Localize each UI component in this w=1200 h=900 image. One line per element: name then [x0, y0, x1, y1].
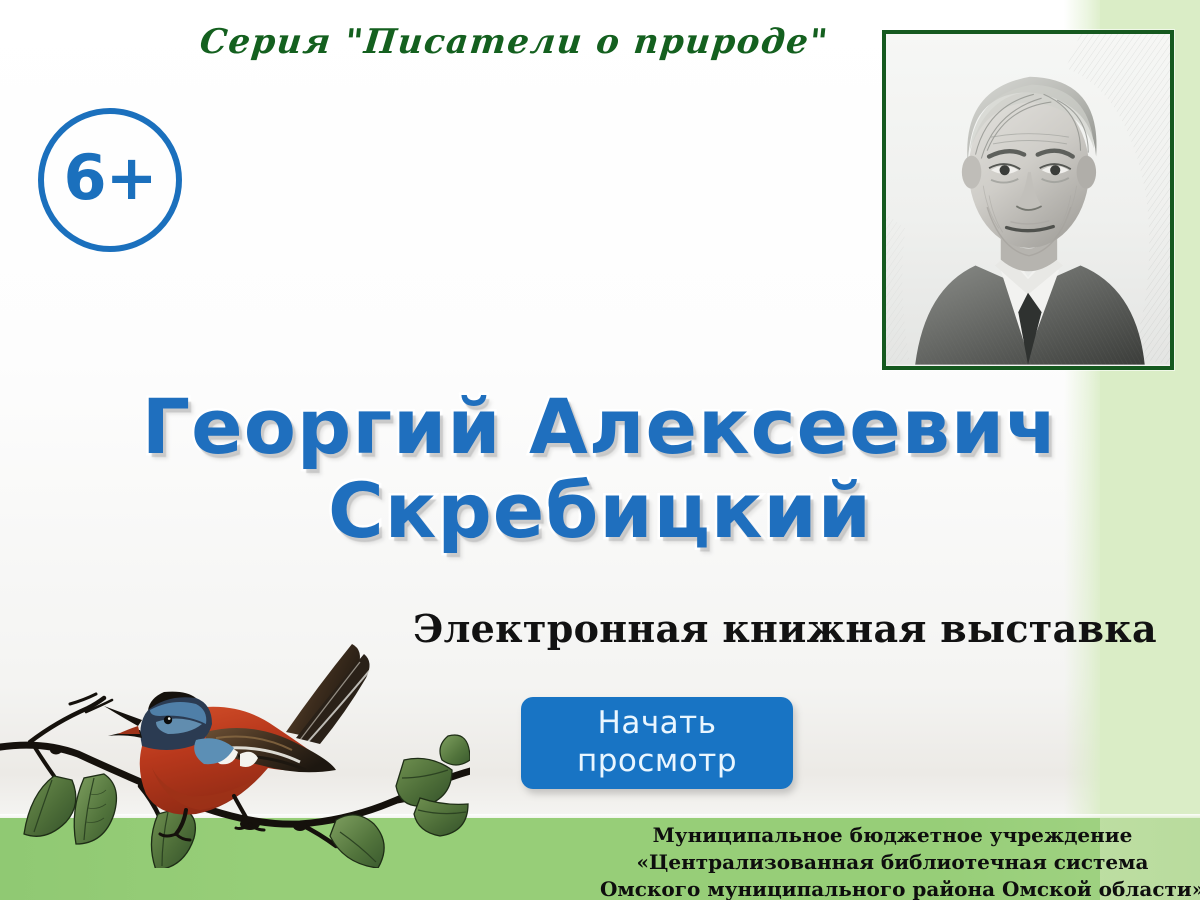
author-portrait-frame: [882, 30, 1174, 370]
footer-line-3: Омского муниципального района Омской обл…: [600, 876, 1185, 900]
start-viewing-button[interactable]: Начать просмотр: [521, 697, 793, 789]
start-button-label-line-2: просмотр: [577, 743, 737, 781]
presentation-slide: Серия "Писатели о природе" 6+: [0, 0, 1200, 900]
exhibition-subtitle: Электронная книжная выставка: [400, 606, 1170, 651]
age-rating-label: 6+: [63, 147, 156, 213]
start-button-label-line-1: Начать: [598, 705, 717, 743]
age-rating-badge: 6+: [38, 108, 182, 252]
series-label: Серия "Писатели о природе": [198, 22, 822, 62]
author-portrait-image: [886, 34, 1170, 365]
footer-line-1: Муниципальное бюджетное учреждение: [600, 822, 1185, 849]
footer-line-2: «Централизованная библиотечная система: [600, 849, 1185, 876]
bird-on-branch-illustration: [0, 628, 470, 868]
institution-footer: Муниципальное бюджетное учреждение «Цент…: [600, 822, 1185, 900]
